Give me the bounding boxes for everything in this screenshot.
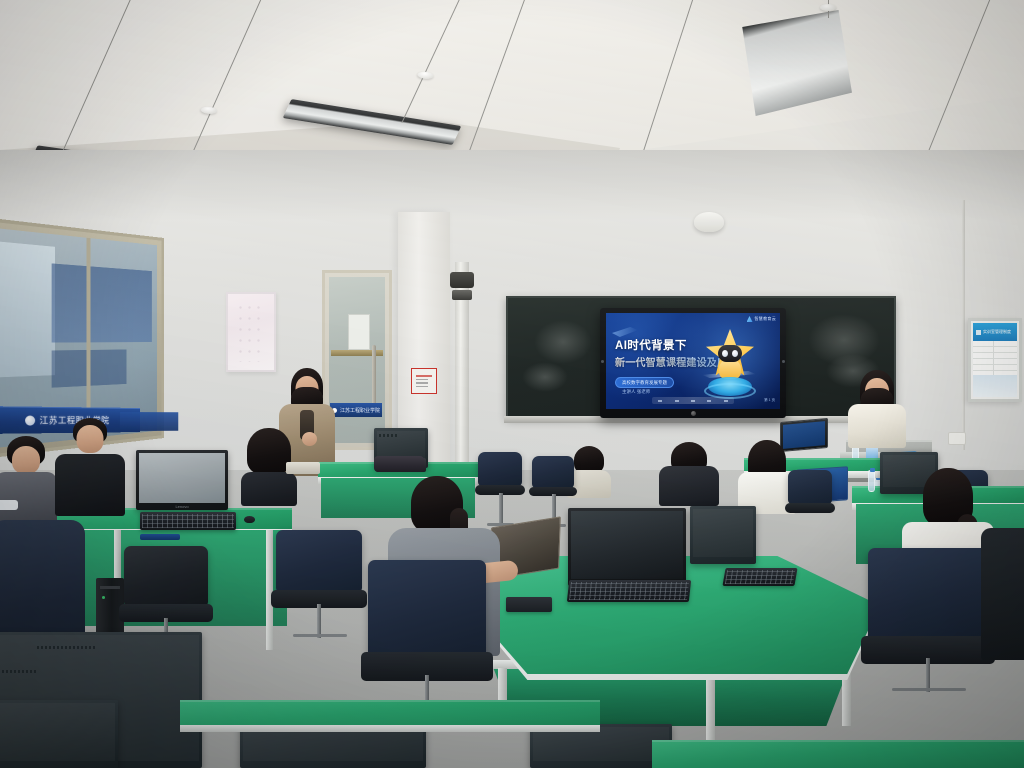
display-side-button[interactable] <box>782 360 785 363</box>
mouse-left-1[interactable] <box>244 516 255 523</box>
notice-board-title: 实训室管理制度 <box>983 329 1011 335</box>
star-mascot-icon <box>704 329 756 401</box>
keyboard-keys <box>569 582 689 600</box>
mascot-eye <box>722 350 728 357</box>
chair-left-mid[interactable] <box>276 530 362 592</box>
ceiling-speaker-icon <box>694 212 724 232</box>
monitor-bezel <box>690 506 756 564</box>
desk-foreground-right <box>652 740 1024 768</box>
monitor-left-1[interactable]: Lenovo <box>136 450 228 510</box>
display-screen[interactable]: 智慧教育云 AI时代背景下 新一代智慧课程建设及应用 高校数字教育发展专题 主讲… <box>606 313 780 409</box>
chalk-smudge <box>522 362 568 392</box>
slide-page-number: 第 1 页 <box>764 398 775 403</box>
wall-pillar <box>398 212 450 462</box>
chair-base <box>293 634 346 637</box>
person-student-right-2 <box>980 520 1024 660</box>
slide-footer-navbar[interactable] <box>652 397 734 404</box>
keyboard-keys <box>142 514 234 528</box>
desk-leg <box>266 530 273 650</box>
person-student-mid-2 <box>658 444 720 506</box>
chair-mid-2[interactable] <box>532 456 574 488</box>
notice-board-footer <box>973 375 1017 397</box>
nav-dot[interactable] <box>691 400 695 402</box>
pipe-collar <box>450 272 474 288</box>
notice-line <box>416 375 432 377</box>
slide-title: AI时代背景下 <box>615 337 687 353</box>
display-side-button[interactable] <box>601 360 604 363</box>
window-inner-board <box>52 263 152 342</box>
monitor-screen[interactable] <box>0 703 115 761</box>
monitor-screen[interactable] <box>693 509 753 557</box>
monitor-brand-label: Lenovo <box>175 504 188 509</box>
desk-pen-tray <box>140 534 180 540</box>
person-podium-host <box>846 372 908 448</box>
nav-dot[interactable] <box>724 400 728 402</box>
wall-shading <box>0 150 1024 220</box>
slide-logo: 智慧教育云 <box>747 316 777 322</box>
slide-badge: 高校数字教育发展专题 <box>615 377 674 388</box>
monitor-screen[interactable] <box>571 511 683 579</box>
monitor-vent <box>37 646 96 649</box>
light-canopy <box>820 4 836 11</box>
hair <box>247 428 291 474</box>
slide-presenter-line: 主讲人 张老师 <box>622 389 650 395</box>
chair-center-front[interactable] <box>368 560 486 656</box>
classroom-scene: 江苏工程职业学院 江苏工程职业学院 实训室管理制度 <box>0 0 1024 768</box>
keyboard-left-1[interactable] <box>140 512 236 530</box>
chair-post <box>317 604 321 638</box>
monitor-bezel: Lenovo <box>136 450 228 510</box>
chair-back <box>124 546 208 606</box>
window-sky <box>0 242 55 378</box>
desk-surface <box>652 740 1024 768</box>
desk-edge <box>180 725 600 732</box>
desk-notebook-center[interactable] <box>506 597 552 612</box>
slide-logo-text: 智慧教育云 <box>755 316 777 322</box>
torso <box>241 472 297 506</box>
safety-notice-placard <box>411 368 437 394</box>
framed-wall-poster <box>226 292 276 372</box>
display-bottom-bezel <box>600 409 786 418</box>
hands <box>302 432 317 446</box>
monitor-rear-panel <box>533 727 669 761</box>
wall-power-socket[interactable] <box>948 432 966 445</box>
keyboard-right[interactable] <box>722 568 797 586</box>
bottle-cap <box>870 468 875 472</box>
board-logo-icon <box>976 330 981 335</box>
monitor-vent <box>0 670 37 673</box>
door-sign-text: 江苏工程职业学院 <box>340 407 380 414</box>
chair-post <box>926 658 930 692</box>
chair-back <box>368 560 486 656</box>
slide-logo-icon <box>747 316 753 322</box>
monitor-right-hex[interactable] <box>690 506 756 564</box>
tower-drive-slot <box>100 586 120 589</box>
monitor-screen[interactable] <box>139 453 225 503</box>
wall-notice-board: 实训室管理制度 <box>968 318 1022 402</box>
head <box>77 425 104 453</box>
nav-dot[interactable] <box>707 400 711 402</box>
power-indicator-icon[interactable] <box>691 411 696 416</box>
poster-pattern <box>236 302 266 362</box>
notice-board-header: 实训室管理制度 <box>973 323 1017 341</box>
chair-back <box>276 530 362 592</box>
monitor-bezel <box>0 700 118 768</box>
chalk-smudge <box>534 320 592 364</box>
wall-banner-left-continuation <box>120 412 178 431</box>
water-bottle[interactable] <box>868 470 875 492</box>
monitor-bezel: Lenovo <box>568 508 686 586</box>
monitor-center[interactable]: Lenovo <box>568 508 686 586</box>
interactive-smart-display[interactable]: 智慧教育云 AI时代背景下 新一代智慧课程建设及应用 高校数字教育发展专题 主讲… <box>600 308 786 418</box>
chair-seat <box>785 503 834 513</box>
notice-line <box>416 382 428 384</box>
desk-item-pouch <box>374 456 424 472</box>
chair-right-front[interactable] <box>868 548 988 640</box>
chair-mid-3[interactable] <box>788 470 832 504</box>
wall-cable <box>962 200 965 450</box>
ceiling-light-3 <box>740 10 852 116</box>
institution-logo-icon <box>25 416 35 426</box>
torso <box>848 404 906 448</box>
light-fixture-body <box>740 10 852 116</box>
mascot-eye <box>732 350 738 357</box>
slide-decor-swoosh <box>612 327 638 337</box>
keyboard-keys <box>725 570 795 584</box>
desk-surface <box>180 700 600 726</box>
chair-back <box>868 548 988 640</box>
desk-item-notebook <box>286 462 320 474</box>
door-notice-paper <box>348 314 370 351</box>
nav-dot[interactable] <box>675 400 679 402</box>
desk-foreground <box>180 700 600 726</box>
chair-base <box>892 688 966 691</box>
chair-back <box>788 470 832 504</box>
chair-back <box>532 456 574 488</box>
chair-left-front[interactable] <box>124 546 208 606</box>
monitor-vent <box>379 434 398 437</box>
torso <box>659 466 719 506</box>
keyboard-center[interactable] <box>567 580 691 602</box>
pipe-collar <box>452 290 472 300</box>
notice-board-table <box>973 341 1017 375</box>
notice-line <box>416 379 428 381</box>
notice-line <box>416 386 428 388</box>
head <box>12 446 40 474</box>
nav-dot[interactable] <box>658 400 662 402</box>
torso <box>981 528 1024 660</box>
mascot-torso <box>719 359 741 379</box>
mascot-face <box>718 345 742 362</box>
tower-power-led <box>102 596 105 599</box>
monitor-foreground-left-2[interactable] <box>0 700 118 768</box>
